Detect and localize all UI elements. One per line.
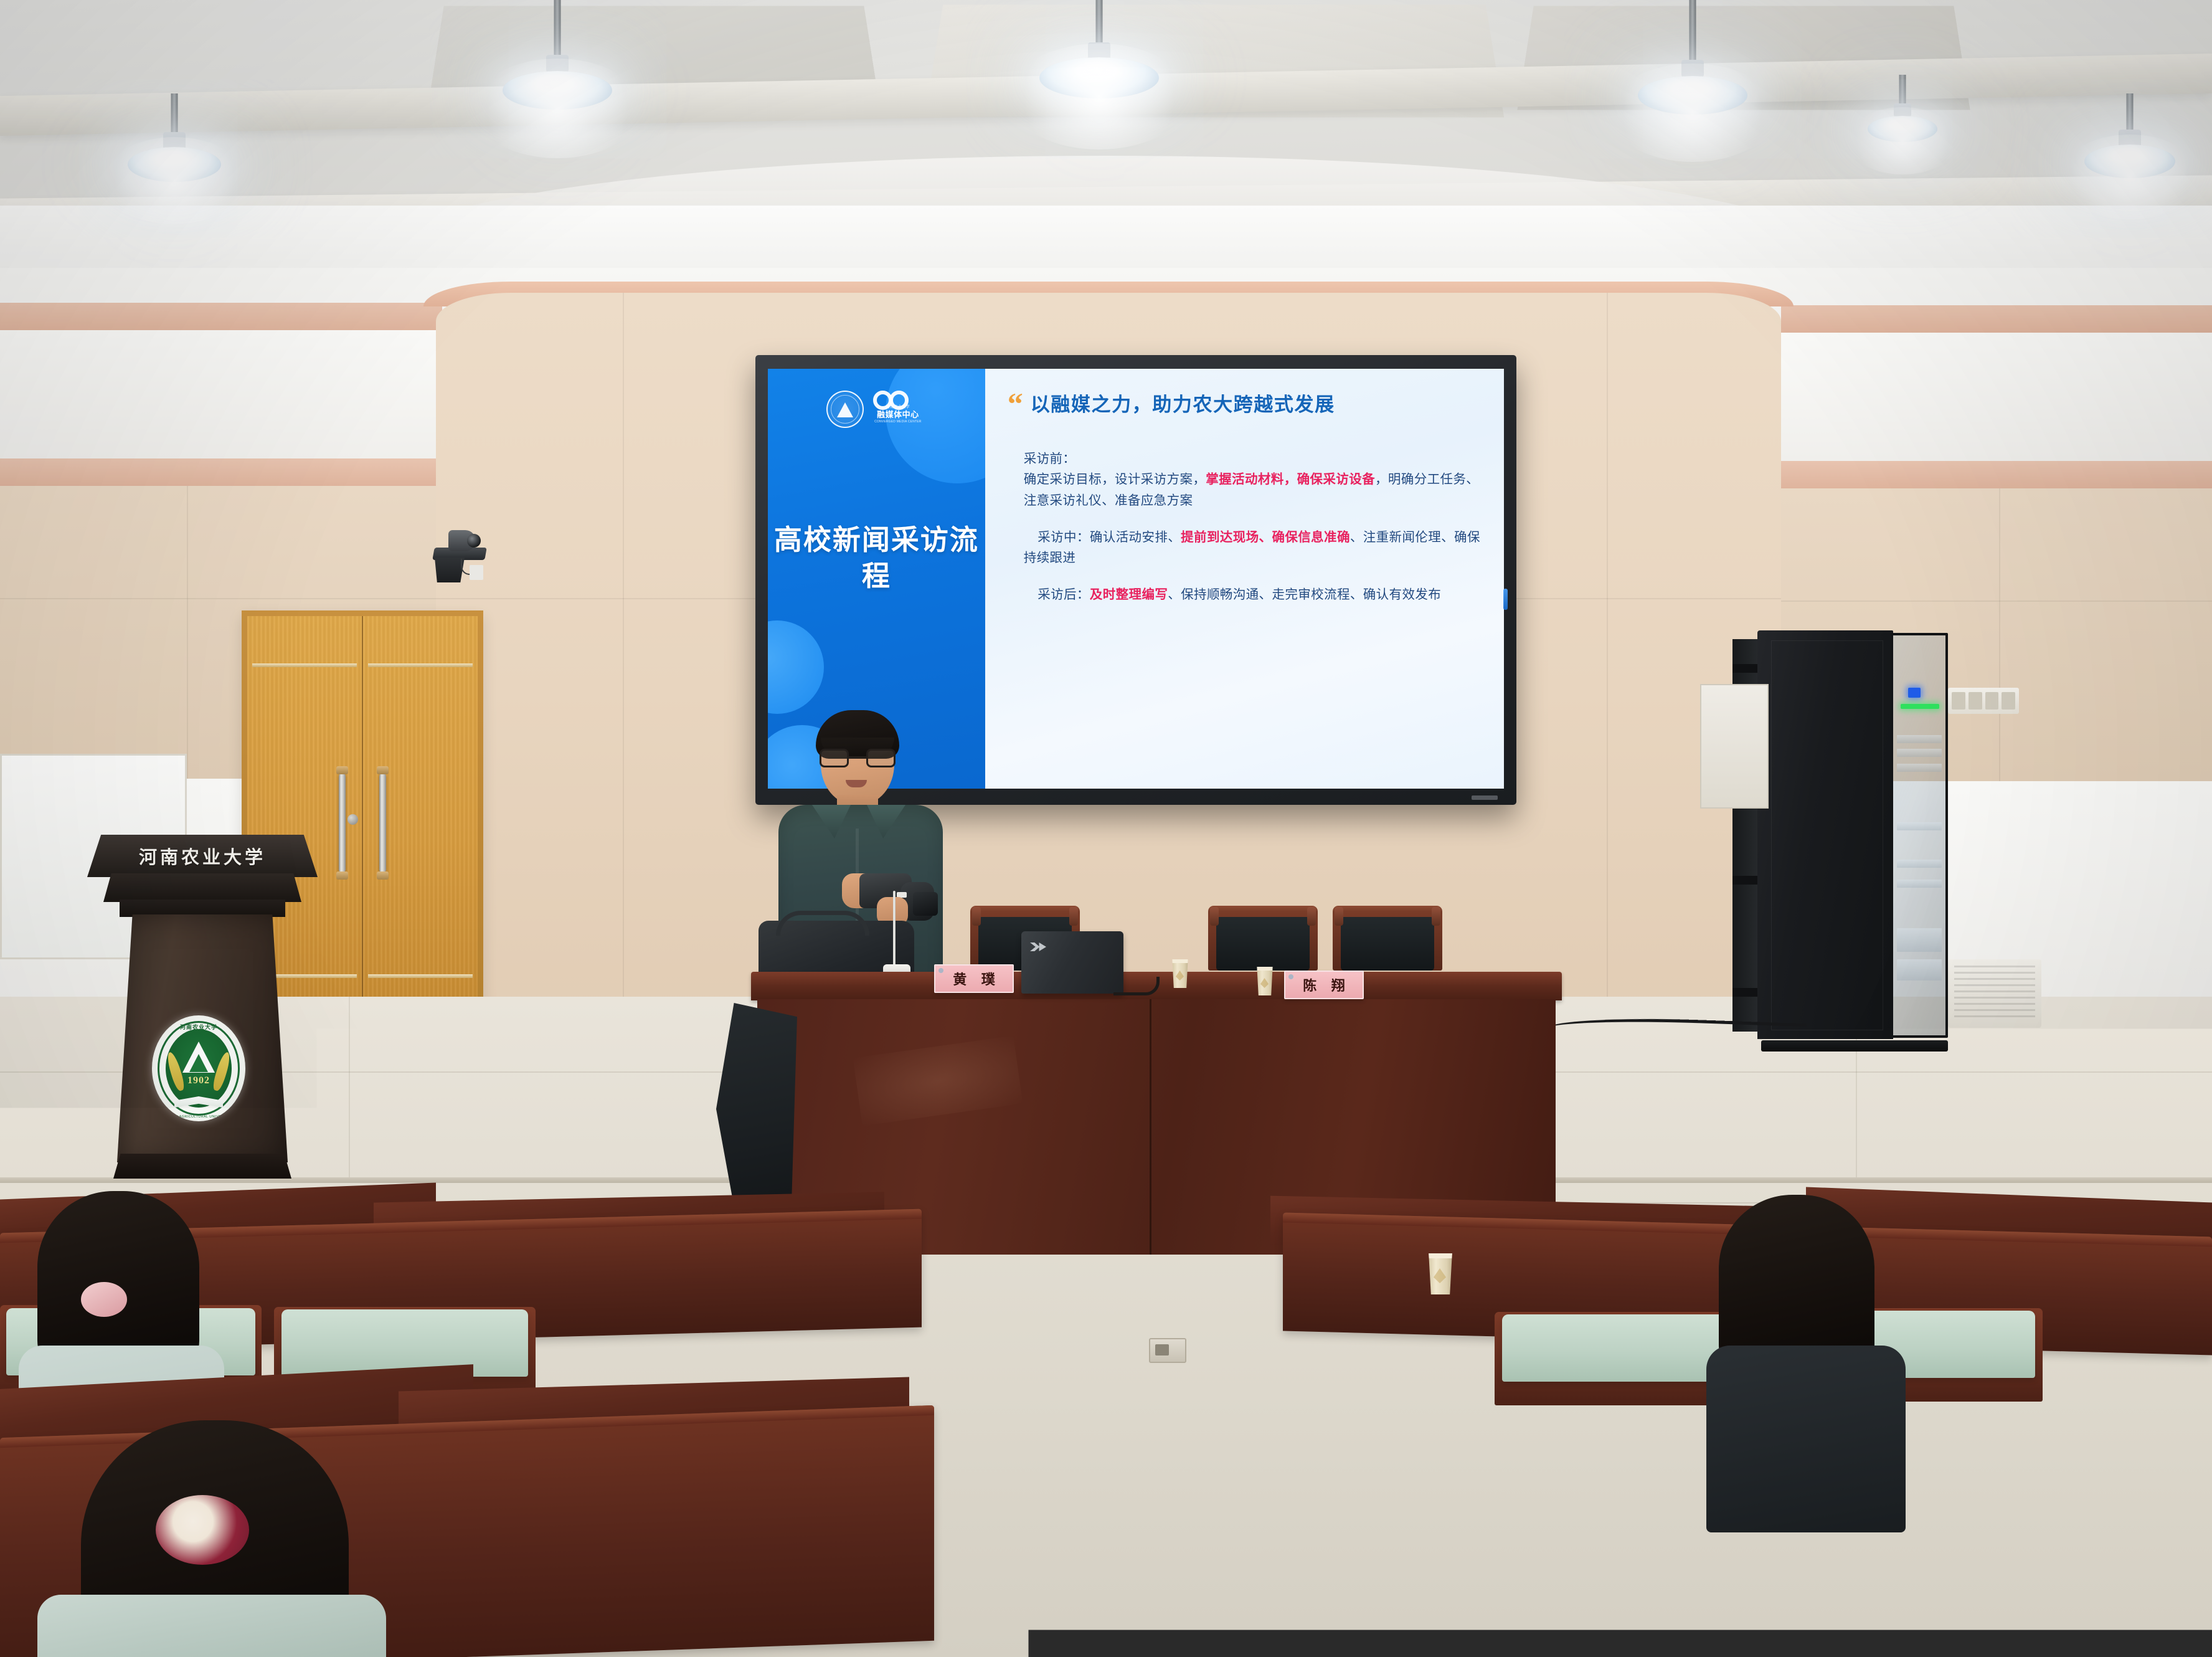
nameplate-2-text: 陈 翔 <box>1297 975 1351 995</box>
slide-heading-text: 以融媒之力，助力农大跨越式发展 <box>1031 390 1335 416</box>
desk-microphone <box>883 891 908 984</box>
screen-bottom-tab <box>1472 795 1498 800</box>
para2-text-a: 确认活动安排、 <box>1090 530 1181 544</box>
stage-wall-seam-3 <box>1607 293 1608 1015</box>
slide-paragraph-after: 采访后：及时整理编写、保持顺畅沟通、走完审校流程、确认有效发布 <box>1024 584 1480 605</box>
door-right-leaf[interactable] <box>363 616 478 1022</box>
emblem-year: 1902 <box>152 1075 245 1086</box>
paper-cup-1 <box>1171 959 1189 988</box>
wall-right-white <box>1781 333 2212 461</box>
quote-mark-icon: “ <box>1008 392 1023 416</box>
para3-text-b: 、保持顺畅沟通、走完审校流程、确认有效发布 <box>1168 587 1441 602</box>
door-handle-right[interactable] <box>379 773 386 873</box>
camera-lens-icon <box>467 534 481 548</box>
university-emblem-icon: 河南农业大学 1902 HENAN AGRICULTURAL UNIVERSIT… <box>152 1015 245 1121</box>
paper-cup-2 <box>1255 967 1274 995</box>
audience-phone[interactable] <box>1800 1495 1841 1562</box>
screen-side-indicator <box>1503 589 1508 610</box>
slide-heading: “ 以融媒之力，助力农大跨越式发展 <box>1008 390 1485 416</box>
wall-left-white <box>0 330 442 461</box>
audience-person-1-hairtie <box>81 1282 127 1317</box>
media-center-cn: 融媒体中心 <box>869 411 927 419</box>
lecture-hall-scene: 河南农业大学 融媒体中心 CONVERGED MEDIA CENTER 高校新闻… <box>0 0 2212 1657</box>
wall-access-panel <box>1700 684 1769 809</box>
rack-cabinet <box>1757 630 1893 1039</box>
slide-paragraph-before: 采访前： 确定采访目标，设计采访方案，掌握活动材料，确保采访设备，明确分工任务、… <box>1024 449 1480 511</box>
wall-tile-line-3 <box>1781 601 2212 602</box>
audience-person-3-body <box>37 1595 386 1657</box>
laptop[interactable] <box>1021 931 1123 999</box>
laptop-cable <box>1113 977 1160 995</box>
audience-person-4-body <box>1775 1607 2173 1657</box>
para3-label: 采访后： <box>1037 587 1090 602</box>
audience-person-4-hairclip <box>1962 1507 2018 1535</box>
head-chair-2 <box>1208 904 1318 973</box>
lectern-podium: 河南农业大学 河南农业大学 1902 HENAN AGRICULTURAL UN… <box>87 835 318 1184</box>
ptz-camera <box>422 526 491 589</box>
wall-air-unit <box>1948 959 2041 1028</box>
audience-person-3-scrunchie <box>156 1495 249 1565</box>
media-center-sub-cn: 河南农业大学 <box>869 404 927 409</box>
university-seal-icon <box>826 391 864 428</box>
emblem-chinese-text: 河南农业大学 <box>152 1023 245 1031</box>
podium-sign: 河南农业大学 <box>87 835 318 877</box>
floor-junction-box <box>1149 1338 1186 1363</box>
decorative-circle-mid <box>768 620 824 714</box>
ceiling-light-1 <box>118 93 230 193</box>
wall-trim-left-lower <box>0 458 442 486</box>
nameplate-logo-icon <box>938 968 943 973</box>
wall-tile-line-4 <box>1999 488 2000 781</box>
wall-tile-line-1 <box>0 598 442 599</box>
wall-outlet-strip[interactable] <box>1948 688 2019 714</box>
para3-highlight: 及时整理编写 <box>1090 587 1168 602</box>
wall-trim-right-lower <box>1781 461 2212 488</box>
nameplate-1: 黄 璞 <box>934 964 1014 993</box>
ceiling-light-5 <box>2074 93 2186 193</box>
ceiling-light-4 <box>1625 0 1759 118</box>
para1-label: 采访前： <box>1024 449 1480 469</box>
nameplate-logo-icon-2 <box>1288 974 1293 979</box>
para2-label: 采访中： <box>1037 530 1090 544</box>
rack-led-green <box>1901 704 1939 709</box>
ceiling-light-6 <box>1856 75 1949 162</box>
nameplate-2: 陈 翔 <box>1284 971 1364 999</box>
wall-trim-right-upper <box>1781 305 2212 333</box>
glasses-icon <box>820 749 896 767</box>
head-chair-3 <box>1333 904 1442 973</box>
podium-sign-text: 河南农业大学 <box>139 843 266 869</box>
rack-glass-door[interactable] <box>1891 633 1948 1038</box>
para1-text-a: 确定采访目标，设计采访方案， <box>1024 472 1206 487</box>
wall-tile-line-2 <box>187 486 188 779</box>
emblem-english-text: HENAN AGRICULTURAL UNIVERSITY <box>152 1115 245 1119</box>
logo-lockup: 河南农业大学 融媒体中心 CONVERGED MEDIA CENTER <box>826 390 927 429</box>
para1-highlight: 掌握活动材料，确保采访设备 <box>1206 472 1375 487</box>
slide-paragraph-during: 采访中：确认活动安排、提前到达现场、确保信息准确、注重新闻伦理、确保持续跟进 <box>1024 527 1480 568</box>
wall-trim-left-upper <box>0 303 442 330</box>
slide-left-title: 高校新闻采访流程 <box>768 522 985 594</box>
ceiling-light-3 <box>1028 0 1171 103</box>
ceiling-light-2 <box>492 0 623 109</box>
media-center-en: CONVERGED MEDIA CENTER <box>869 420 927 424</box>
slide-body: 采访前： 确定采访目标，设计采访方案，掌握活动材料，确保采访设备，明确分工任务、… <box>1008 449 1485 605</box>
media-center-logo-icon: 河南农业大学 融媒体中心 CONVERGED MEDIA CENTER <box>869 390 927 429</box>
door-lock-icon[interactable] <box>347 814 358 825</box>
para2-highlight: 提前到达现场、确保信息准确 <box>1181 530 1350 544</box>
rack-led-blue <box>1908 688 1921 698</box>
nameplate-1-text: 黄 璞 <box>947 969 1001 989</box>
slide-content-panel: “ 以融媒之力，助力农大跨越式发展 采访前： 确定采访目标，设计采访方案，掌握活… <box>985 369 1504 789</box>
seat-back-2 <box>281 1309 528 1377</box>
av-equipment-rack <box>1757 630 1948 1042</box>
stage-wall-seam-2 <box>623 293 624 1015</box>
door-handle-left[interactable] <box>339 773 346 873</box>
